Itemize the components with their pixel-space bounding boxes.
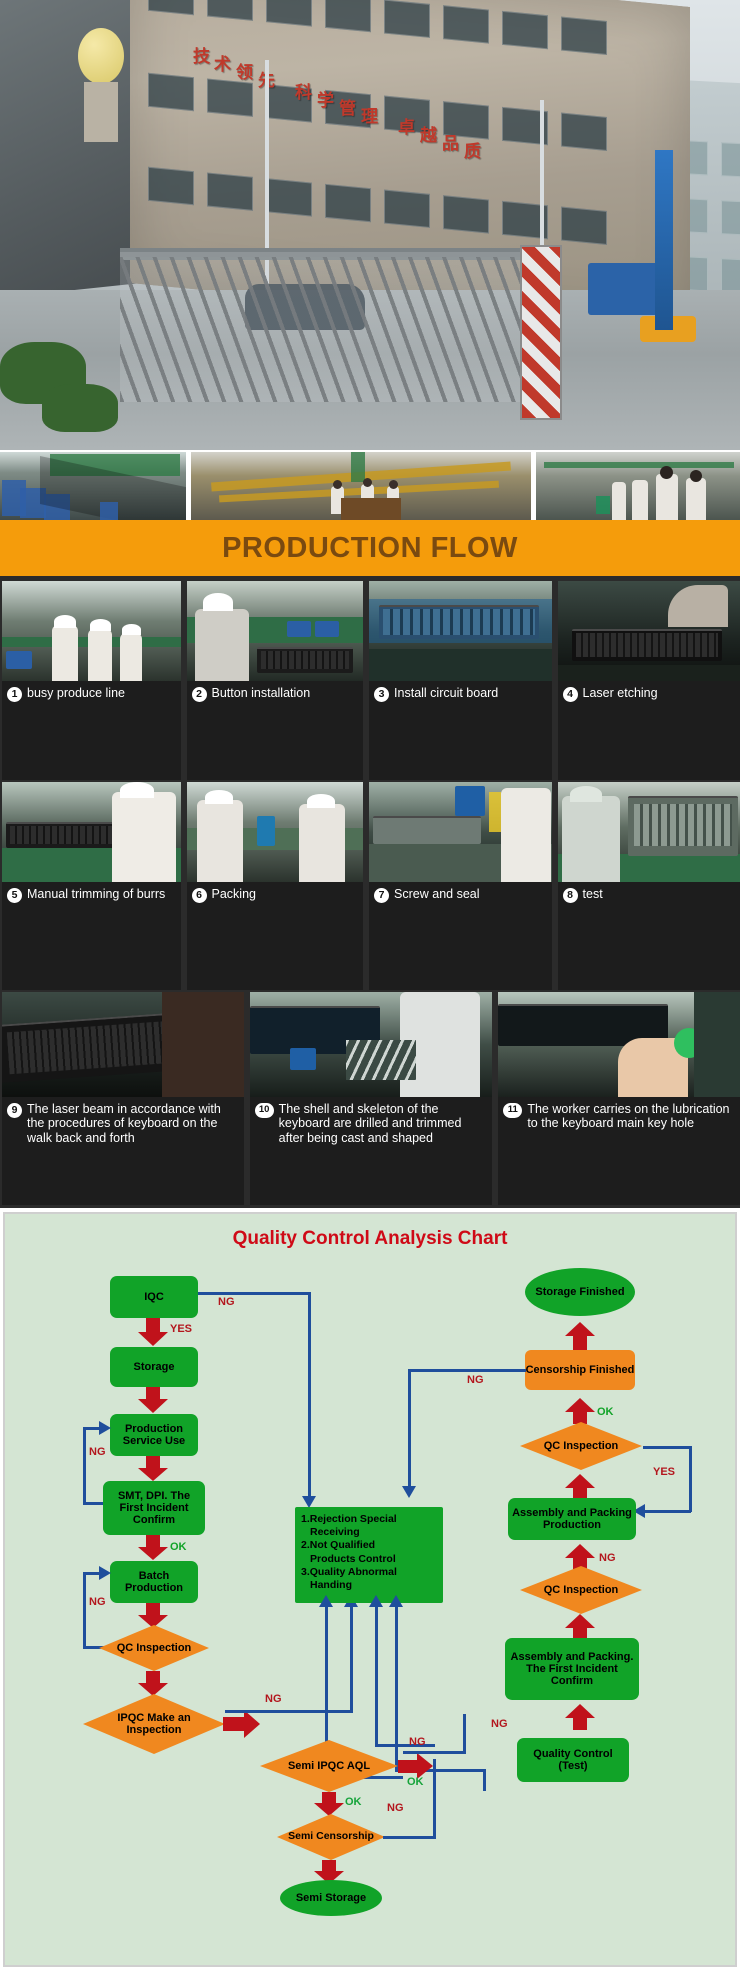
edge-ipqc-ng-horiz: [225, 1710, 353, 1713]
step-label: Packing: [212, 887, 360, 901]
edge-label-ng: NG: [409, 1736, 426, 1748]
flow-node-semi-storage[interactable]: Semi Storage: [280, 1880, 382, 1916]
edge-label-yes: NG: [599, 1552, 616, 1564]
factory-exterior-photo: 技 术 领 先 科 学 管 理 卓 越 品 质: [0, 0, 740, 450]
production-step-card[interactable]: 2 Button installation: [187, 581, 364, 780]
edge-label-ng: NG: [218, 1296, 235, 1308]
quality-control-flowchart: Quality Control Analysis Chart IQC NG YE…: [3, 1212, 737, 1967]
edge-label-ng: YES: [653, 1466, 675, 1478]
production-flow-row: 1 busy produce line 2 Button ins: [0, 576, 740, 780]
facade-sign-char: 理: [361, 102, 378, 127]
rejection-line: Products Control: [301, 1553, 437, 1566]
rejection-line: Handing: [301, 1579, 437, 1592]
flow-node-ipqc-inspection[interactable]: IPQC Make an Inspection: [83, 1694, 225, 1754]
arrowhead-right: [99, 1566, 111, 1580]
rejection-line: Receiving: [301, 1526, 437, 1539]
step-number-badge: 1: [7, 687, 22, 702]
facade-sign-char: 科: [295, 78, 312, 103]
page-root: 技 术 领 先 科 学 管 理 卓 越 品 质: [0, 0, 740, 1970]
production-step-card[interactable]: 11 The worker carries on the lubrication…: [498, 992, 740, 1205]
edge-semicens-ng: [383, 1836, 435, 1839]
flow-node-censorship-finished[interactable]: Censorship Finished: [525, 1350, 635, 1390]
edge-label-ng: NG: [467, 1374, 484, 1386]
arrowhead-down: [138, 1399, 168, 1413]
production-flow-grid: 1 busy produce line 2 Button ins: [0, 576, 740, 1208]
edge-iqc-ng: [198, 1292, 311, 1295]
flow-node-storage-finished[interactable]: Storage Finished: [525, 1268, 635, 1316]
rejection-line: 2.Not Qualified: [301, 1539, 437, 1552]
rejection-line: 1.Rejection Special: [301, 1513, 437, 1526]
production-step-label-row: 4 Laser etching: [558, 681, 740, 708]
step-label: test: [583, 887, 736, 901]
production-step-label-row: 9 The laser beam in accordance with the …: [2, 1097, 244, 1151]
production-step-card[interactable]: 1 busy produce line: [2, 581, 181, 780]
production-step-card[interactable]: 7 Screw and seal: [369, 782, 551, 990]
flow-node-quality-control-test[interactable]: Quality Control (Test): [517, 1738, 629, 1782]
production-step-card[interactable]: 9 The laser beam in accordance with the …: [2, 992, 244, 1205]
step-number-badge: 8: [563, 888, 578, 903]
production-step-label-row: 10 The shell and skeleton of the keyboar…: [250, 1097, 493, 1151]
facade-sign-char: 领: [236, 58, 253, 83]
arrowhead-right: [99, 1421, 111, 1435]
edge-qc1-ng-vert: [83, 1572, 86, 1648]
edge-label-ok: OK: [345, 1796, 362, 1808]
production-step-card[interactable]: 8 test: [558, 782, 740, 990]
lamp-post: [84, 82, 118, 142]
production-step-card[interactable]: 3 Install circuit board: [369, 581, 551, 780]
facade-sign-char: 术: [214, 50, 231, 75]
step-label: The shell and skeleton of the keyboard a…: [279, 1102, 489, 1145]
arrowhead-up: [319, 1595, 333, 1607]
arrow-censfin-to-storagefin: [573, 1334, 587, 1350]
edge-label-yes: YES: [170, 1323, 192, 1335]
arrowhead-up: [369, 1595, 383, 1607]
step-number-badge: 5: [7, 888, 22, 903]
edge-qc3-ng-horiz: [643, 1446, 691, 1449]
production-step-label-row: 6 Packing: [187, 882, 364, 909]
flow-node-iqc[interactable]: IQC: [110, 1276, 198, 1318]
edge-semicens-ng-vert: [433, 1759, 436, 1839]
interior-photo-workers-row: [536, 452, 740, 520]
production-flow-row: 5 Manual trimming of burrs 6 Packing: [0, 780, 740, 990]
step-label: Manual trimming of burrs: [27, 887, 177, 901]
edge-qctest-ng-vert: [463, 1714, 466, 1754]
production-flow-banner: PRODUCTION FLOW: [0, 520, 740, 576]
edge-label-ok: OK: [170, 1541, 187, 1553]
edge-qc3-ng-return: [645, 1510, 691, 1513]
banner-title: PRODUCTION FLOW: [222, 532, 518, 565]
step-label: The laser beam in accordance with the pr…: [27, 1102, 240, 1145]
interior-photo-machine-shop: [191, 452, 531, 520]
facade-sign-char: 学: [317, 86, 334, 111]
flow-node-semi-ipqc-aql[interactable]: Semi IPQC AQL: [260, 1740, 398, 1792]
flow-node-rejection-handling[interactable]: 1.Rejection Special Receiving 2.Not Qual…: [295, 1507, 443, 1603]
step-number-badge: 3: [374, 687, 389, 702]
flow-node-qc-inspection-1[interactable]: QC Inspection: [99, 1625, 209, 1671]
production-step-card[interactable]: 4 Laser etching: [558, 581, 740, 780]
edge-into-rejection-c-riser: [483, 1769, 486, 1791]
edge-censfin-ng-vert: [408, 1369, 411, 1487]
production-step-card[interactable]: 6 Packing: [187, 782, 364, 990]
step-label: The worker carries on the lubrication to…: [527, 1102, 736, 1131]
edge-label-ok: OK: [597, 1406, 614, 1418]
flow-node-storage[interactable]: Storage: [110, 1347, 198, 1387]
production-step-card[interactable]: 5 Manual trimming of burrs: [2, 782, 181, 990]
flow-node-production-service-use[interactable]: Production Service Use: [110, 1414, 198, 1456]
flow-node-semi-censorship[interactable]: Semi Censorship: [277, 1814, 385, 1860]
step-number-badge: 2: [192, 687, 207, 702]
rejection-list: 1.Rejection Special Receiving 2.Not Qual…: [301, 1513, 437, 1592]
flow-node-qc-inspection-2[interactable]: QC Inspection: [520, 1566, 642, 1614]
step-number-badge: 11: [503, 1103, 522, 1118]
arrow-semiaql-to-qctest: [398, 1760, 418, 1773]
production-step-label-row: 3 Install circuit board: [369, 681, 551, 708]
step-label: Install circuit board: [394, 686, 547, 700]
edge-iqc-ng-vert: [308, 1292, 311, 1496]
edge-label-ng: NG: [265, 1693, 282, 1705]
edge-ipqc-ng-vert: [350, 1606, 353, 1713]
edge-into-rejection-b: [375, 1606, 378, 1746]
facade-sign-char: 卓: [398, 113, 415, 138]
edge-label-ng: NG: [89, 1596, 106, 1608]
production-step-label-row: 2 Button installation: [187, 681, 364, 708]
step-number-badge: 4: [563, 687, 578, 702]
flow-node-assembly-first-incident[interactable]: Assembly and Packing. The First Incident…: [505, 1638, 639, 1700]
production-step-label-row: 1 busy produce line: [2, 681, 181, 708]
step-number-badge: 9: [7, 1103, 22, 1118]
arrowhead-down: [402, 1486, 416, 1498]
facade-sign-char: 越: [420, 121, 437, 146]
flow-node-smt-dpi[interactable]: SMT, DPI. The First Incident Confirm: [103, 1481, 205, 1535]
production-step-label-row: 5 Manual trimming of burrs: [2, 882, 181, 909]
retractable-gate: [120, 252, 550, 402]
interior-photo-assembly-line: [0, 452, 186, 520]
arrow-qctest-to-asmfirst: [573, 1716, 587, 1730]
step-label: Screw and seal: [394, 887, 547, 901]
step-number-badge: 10: [255, 1103, 274, 1118]
edge-smt-ng-vert: [83, 1427, 86, 1505]
arrow-ipqc-to-semi-aql: [223, 1717, 245, 1731]
edge-qctest-ng-horiz: [403, 1751, 465, 1754]
arrowhead-up: [389, 1595, 403, 1607]
flowchart-title: Quality Control Analysis Chart: [5, 1228, 735, 1250]
arrowhead-down: [138, 1468, 168, 1481]
edge-label-ok: OK: [407, 1776, 424, 1788]
facade-sign-char: 品: [442, 129, 459, 154]
edge-label-ng: NG: [89, 1446, 106, 1458]
production-step-card[interactable]: 10 The shell and skeleton of the keyboar…: [250, 992, 493, 1205]
flow-node-qc-inspection-3[interactable]: QC Inspection: [520, 1422, 642, 1470]
facade-sign-char: 技: [193, 42, 210, 67]
production-step-label-row: 11 The worker carries on the lubrication…: [498, 1097, 740, 1137]
edge-censfin-ng-horiz: [408, 1369, 526, 1372]
edge-label-ng: NG: [491, 1718, 508, 1730]
gate-post: [520, 245, 562, 420]
factory-interior-photo-strip: [0, 452, 740, 520]
step-label: busy produce line: [27, 686, 177, 700]
arrowhead-right: [244, 1710, 260, 1738]
facade-sign-char: 管: [339, 94, 356, 119]
production-step-label-row: 7 Screw and seal: [369, 882, 551, 909]
step-number-badge: 6: [192, 888, 207, 903]
globe-lamp: [78, 28, 124, 84]
arrowhead-down: [138, 1547, 168, 1560]
step-number-badge: 7: [374, 888, 389, 903]
shrub: [42, 384, 118, 432]
flow-node-batch-production[interactable]: Batch Production: [110, 1561, 198, 1603]
flow-node-assembly-packing-production[interactable]: Assembly and Packing Production: [508, 1498, 636, 1540]
edge-label-ng: NG: [387, 1802, 404, 1814]
facade-sign-char: 质: [464, 137, 481, 162]
edge-qc3-ng-vert: [689, 1446, 692, 1512]
arrowhead-down: [138, 1332, 168, 1346]
step-label: Button installation: [212, 686, 360, 700]
production-flow-row: 9 The laser beam in accordance with the …: [0, 990, 740, 1205]
production-step-label-row: 8 test: [558, 882, 740, 909]
step-label: Laser etching: [583, 686, 736, 700]
rejection-line: 3.Quality Abnormal: [301, 1566, 437, 1579]
lift-mast: [655, 150, 673, 330]
